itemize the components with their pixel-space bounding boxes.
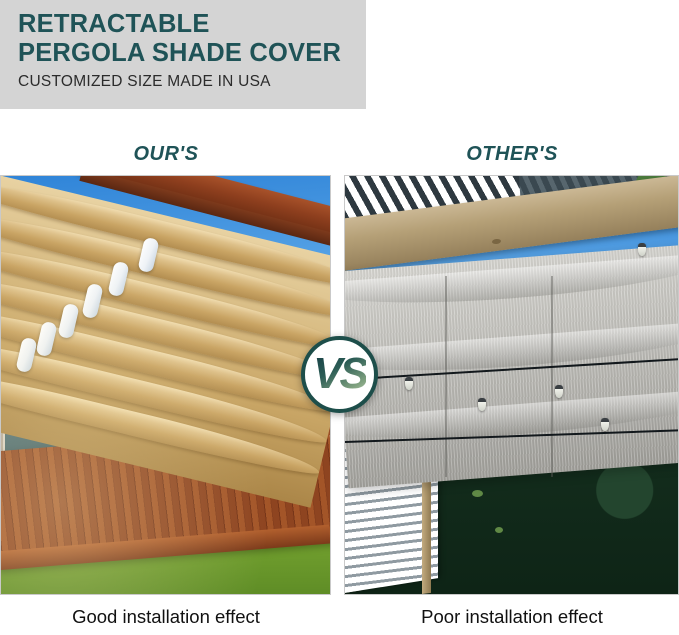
- caption-poor-installation: Poor installation effect: [345, 606, 679, 632]
- vs-badge: VS: [301, 336, 378, 413]
- mesh-seam: [445, 276, 447, 477]
- light-bulb: [638, 243, 646, 256]
- column-heading-others: OTHER'S: [345, 143, 679, 169]
- photo-good-installation: [0, 175, 331, 595]
- light-bulb: [478, 398, 486, 411]
- column-heading-ours: OUR'S: [0, 143, 332, 169]
- light-bulb: [405, 377, 413, 390]
- vs-label: VS: [313, 352, 366, 396]
- leaf: [472, 490, 483, 497]
- page-title: RETRACTABLE PERGOLA SHADE COVER: [18, 10, 358, 68]
- leaf: [495, 527, 503, 533]
- page-subtitle: CUSTOMIZED SIZE MADE IN USA: [18, 73, 271, 91]
- header-banner: RETRACTABLE PERGOLA SHADE COVER CUSTOMIZ…: [0, 0, 366, 109]
- gray-mesh-shade-cloth: [345, 245, 678, 489]
- photo-poor-installation: [344, 175, 679, 595]
- photo-poor-scene: [345, 176, 678, 594]
- photo-good-scene: [1, 176, 330, 594]
- mesh-sag: [345, 320, 678, 383]
- light-bulb: [555, 385, 563, 398]
- mesh-seam: [551, 276, 553, 477]
- caption-good-installation: Good installation effect: [0, 606, 332, 632]
